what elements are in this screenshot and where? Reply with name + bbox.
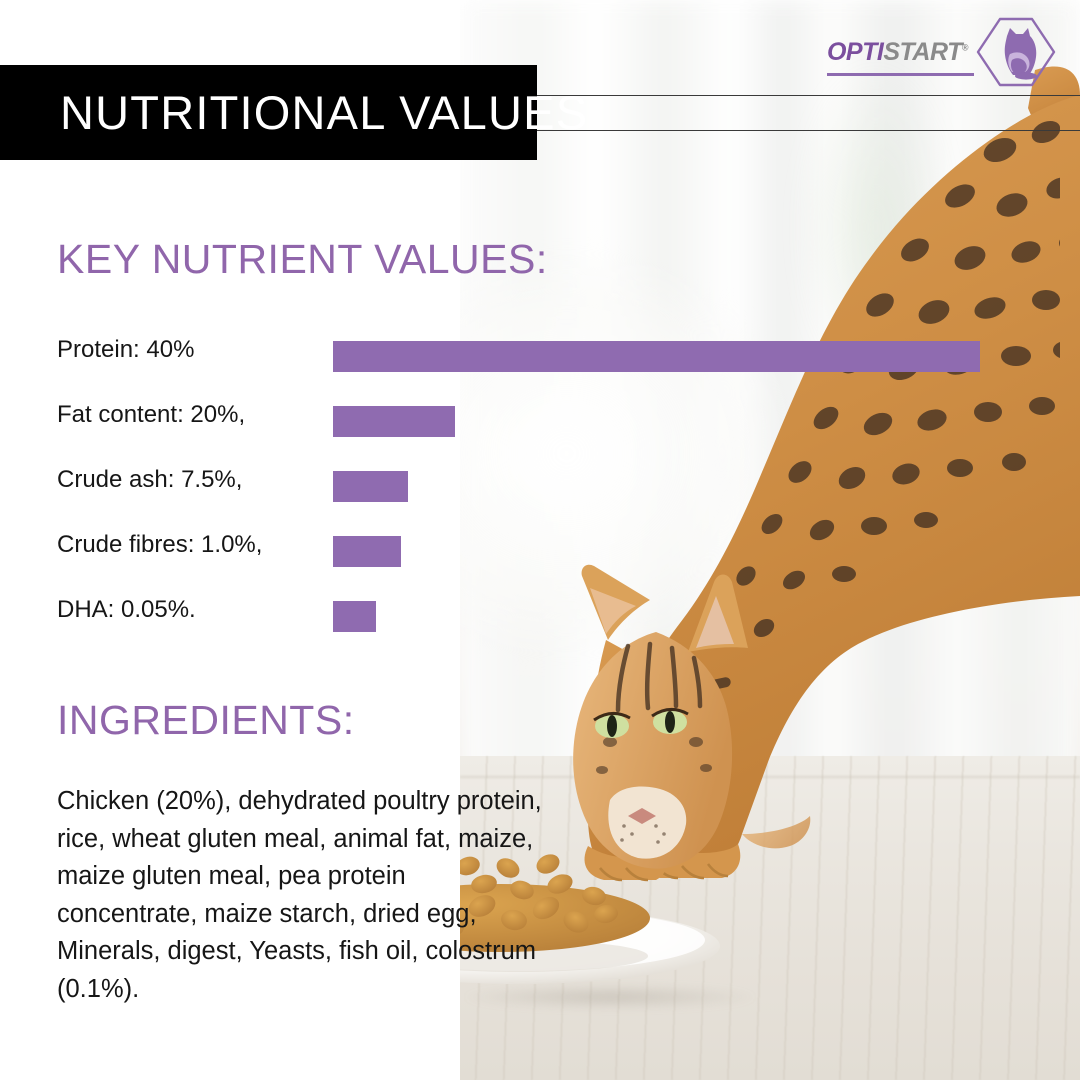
nutrient-bar-crude-ash [333, 471, 408, 502]
registered-trademark-icon: ® [962, 42, 968, 52]
infographic-page: NUTRITIONAL VALUES OPTISTART® KEY NUTRIE… [0, 0, 1080, 1080]
logo-underline [827, 73, 974, 75]
nutrient-label-protein: Protein: 40% [57, 326, 194, 374]
page-title: NUTRITIONAL VALUES [60, 65, 588, 160]
nutrient-bar-crude-fibres [333, 536, 401, 567]
nutrient-label-fat: Fat content: 20%, [57, 391, 245, 439]
nutrient-label-crude-ash: Crude ash: 7.5%, [57, 456, 242, 504]
ingredients-heading: INGREDIENTS: [57, 697, 355, 744]
nutrient-label-crude-fibres: Crude fibres: 1.0%, [57, 521, 262, 569]
logo-start-text: START [883, 38, 962, 66]
header-rule-bottom [537, 130, 1080, 131]
optistart-logo: OPTISTART® [827, 16, 1058, 88]
nutrient-bar-dha [333, 601, 376, 632]
table-row: Crude ash: 7.5%, [0, 456, 1080, 521]
table-row: Protein: 40% [0, 326, 1080, 391]
logo-opti-text: OPTI [827, 38, 883, 66]
nutrient-bar-chart: Protein: 40% Fat content: 20%, Crude ash… [0, 326, 1080, 651]
table-row: DHA: 0.05%. [0, 586, 1080, 651]
logo-wordmark: OPTISTART® [827, 40, 968, 65]
page-title-banner: NUTRITIONAL VALUES [0, 65, 537, 160]
nutrient-bar-protein [333, 341, 980, 372]
key-nutrients-heading: KEY NUTRIENT VALUES: [57, 236, 548, 283]
ingredients-text: Chicken (20%), dehydrated poultry protei… [57, 783, 547, 1008]
table-row: Fat content: 20%, [0, 391, 1080, 456]
nutrient-bar-fat [333, 406, 455, 437]
table-row: Crude fibres: 1.0%, [0, 521, 1080, 586]
cat-hexagon-icon [974, 16, 1058, 88]
header-rule-top [537, 95, 1080, 96]
nutrient-label-dha: DHA: 0.05%. [57, 586, 196, 634]
